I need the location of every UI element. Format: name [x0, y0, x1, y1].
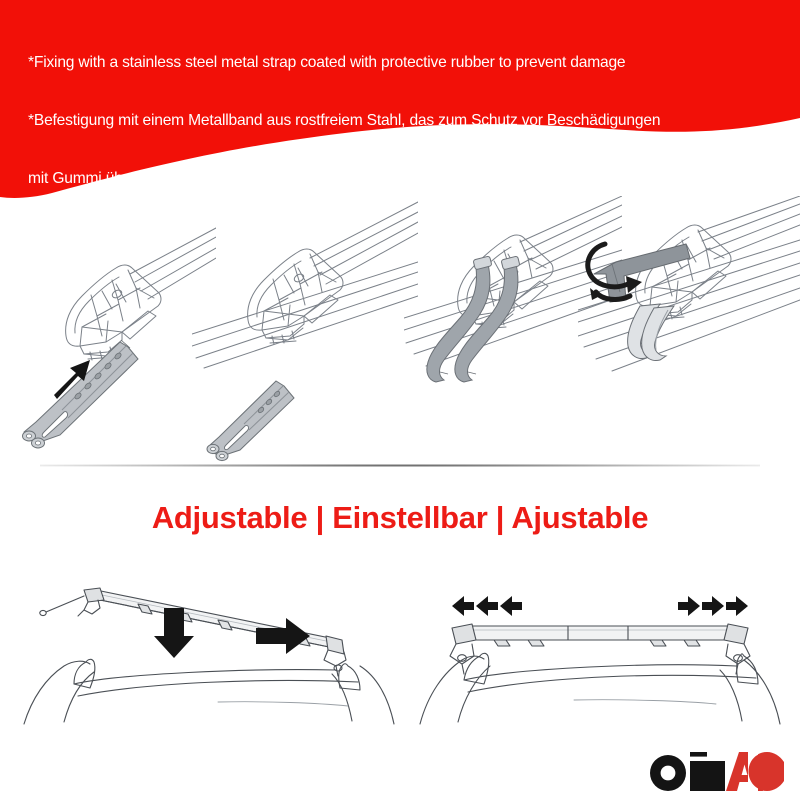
- header-banner: *Fixing with a stainless steel metal str…: [0, 0, 800, 200]
- crossbar-placement-drawing: [18, 566, 404, 726]
- triple-right-arrow-icon: [678, 596, 748, 616]
- step-panel-1: [2, 196, 216, 464]
- crossbar-adjust-drawing: [406, 566, 794, 726]
- omac-logo-mark: [646, 748, 784, 792]
- step-1-illustration: [2, 196, 216, 464]
- metal-strap-wrapped: [628, 304, 674, 361]
- banner-description-text: *Fixing with a stainless steel metal str…: [28, 14, 788, 200]
- section-divider: [40, 464, 760, 467]
- right-arrow-icon: [256, 618, 310, 654]
- banner-line-1: *Fixing with a stainless steel metal str…: [28, 53, 788, 72]
- metal-strap-part: [207, 381, 294, 461]
- banner-line-2: *Befestigung mit einem Metallband aus ro…: [28, 111, 788, 130]
- banner-line-3: mit Gummi überzogen ist: [28, 169, 788, 188]
- logo-letter-o: [650, 755, 686, 791]
- installation-steps-strip: [0, 196, 800, 464]
- logo-letter-c: [748, 752, 784, 791]
- crossbar-placement-figure: [18, 566, 404, 726]
- metal-strap-part: [23, 340, 139, 448]
- step-panel-4: [578, 196, 800, 464]
- logo-letter-m: [690, 752, 725, 791]
- triple-left-arrow-icon: [452, 596, 522, 616]
- adjustable-figures: [0, 566, 800, 726]
- step-4-illustration: [578, 196, 800, 464]
- instruction-graphic-page: *Fixing with a stainless steel metal str…: [0, 0, 800, 800]
- step-panel-2: [192, 196, 418, 464]
- adjustable-heading: Adjustable | Einstellbar | Ajustable: [0, 500, 800, 536]
- omac-logo: [646, 748, 784, 792]
- crossbar-width-adjust-figure: [406, 566, 794, 726]
- step-2-illustration: [192, 196, 418, 464]
- allen-key-icon: [594, 244, 690, 302]
